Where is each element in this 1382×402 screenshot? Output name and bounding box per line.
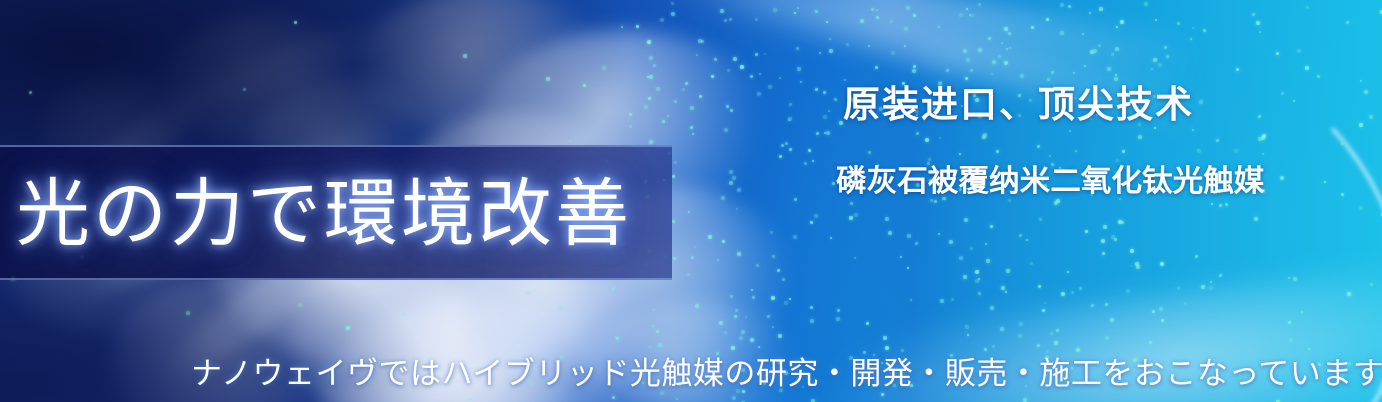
tagline-secondary: 磷灰石被覆纳米二氧化钛光触媒 <box>836 156 1264 200</box>
hero-banner: 光の力で環境改善 原装进口、顶尖技术 磷灰石被覆纳米二氧化钛光触媒 ナノウェイヴ… <box>0 0 1382 402</box>
page-title: 光の力で環境改善 <box>16 159 632 269</box>
banner-description: ナノウェイヴではハイブリッド光触媒の研究・開発・販売・施工をおこなっています <box>191 348 1382 393</box>
tagline-primary: 原装进口、顶尖技术 <box>843 74 1194 128</box>
